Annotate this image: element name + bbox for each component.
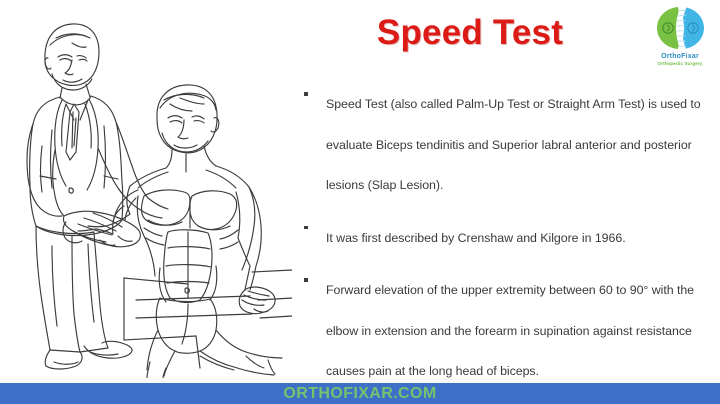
speed-test-clinical-illustration <box>0 0 292 378</box>
examiner-hands <box>63 211 140 247</box>
logo-tagline: Orthopedic Surgery <box>648 61 712 67</box>
footer-banner[interactable]: ORTHOFIXAR.COM <box>0 383 720 404</box>
bullet-text: Speed Test (also called Palm-Up Test or … <box>326 97 701 192</box>
footer-website-label: ORTHOFIXAR.COM <box>283 385 436 403</box>
bullet-text: It was first described by Crenshaw and K… <box>326 231 626 245</box>
bullet-square-icon <box>304 226 308 230</box>
orthofixar-logo-icon <box>654 4 706 52</box>
bullet-square-icon <box>304 92 308 96</box>
list-item: It was first described by Crenshaw and K… <box>300 218 712 259</box>
slide-root: Speed Test <box>0 0 720 404</box>
logo-wordmark: OrthoFixar <box>648 53 712 61</box>
bullet-list: Speed Test (also called Palm-Up Test or … <box>300 84 712 392</box>
bullet-text: Forward elevation of the upper extremity… <box>326 283 694 378</box>
list-item: Speed Test (also called Palm-Up Test or … <box>300 84 712 206</box>
orthofixar-logo[interactable]: OrthoFixar Orthopedic Surgery <box>648 2 712 76</box>
page-title: Speed Test <box>300 12 640 54</box>
bullet-square-icon <box>304 278 308 282</box>
patient-support-arm <box>238 187 275 314</box>
patient-figure <box>78 85 282 378</box>
list-item: Forward elevation of the upper extremity… <box>300 270 712 392</box>
